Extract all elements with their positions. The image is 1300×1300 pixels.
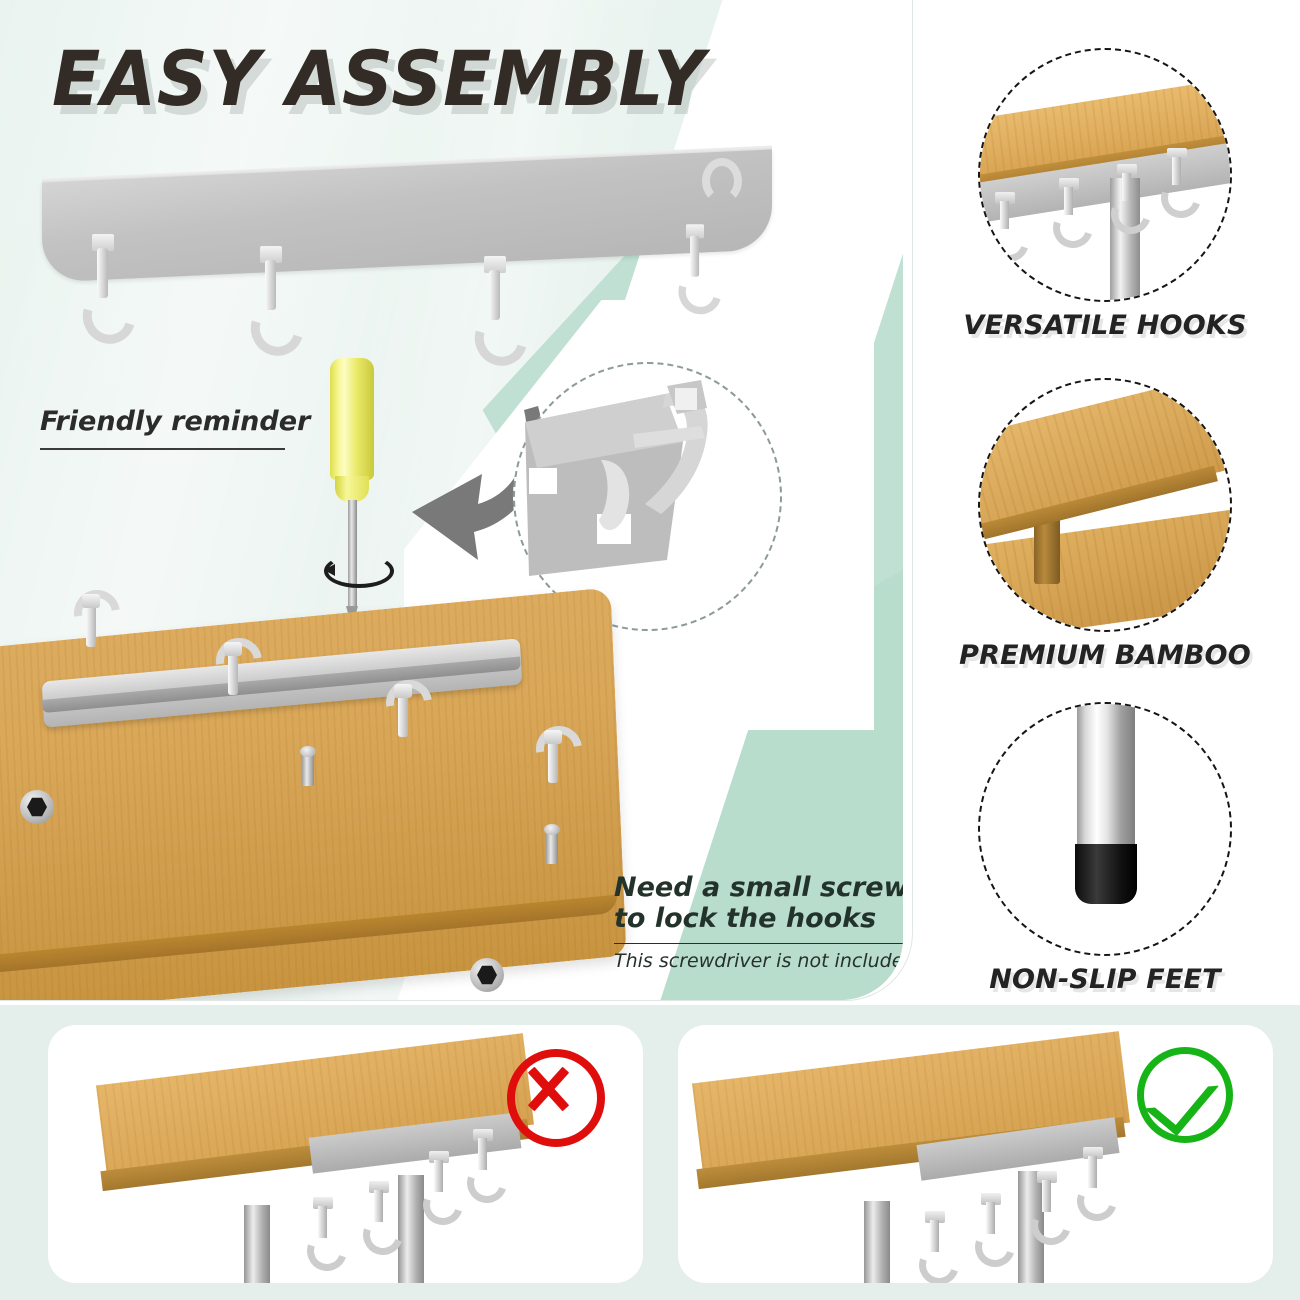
feature-label: NON-SLIP FEET bbox=[955, 964, 1255, 995]
rubber-foot bbox=[1075, 844, 1137, 904]
hook-inward bbox=[1082, 1147, 1104, 1209]
hook-mechanism-detail bbox=[515, 364, 780, 629]
feature-hook bbox=[994, 192, 1016, 248]
rail-hook-rotated-up bbox=[702, 158, 726, 198]
table-leg bbox=[864, 1201, 890, 1283]
feature-hook bbox=[1166, 148, 1188, 204]
hook-outward bbox=[428, 1151, 450, 1213]
premium-bamboo-photo bbox=[978, 378, 1232, 632]
hook-inward bbox=[1036, 1171, 1058, 1233]
page-title: EASY ASSEMBLY bbox=[52, 41, 705, 117]
note-line-2: to lock the hooks bbox=[614, 904, 903, 935]
main-assembly-panel: EASY ASSEMBLY Friendly reminder bbox=[0, 0, 903, 1000]
friendly-reminder-underline bbox=[40, 448, 285, 450]
board-hook bbox=[390, 684, 416, 758]
chrome-leg bbox=[1077, 704, 1135, 854]
hook-detail-magnifier bbox=[513, 362, 782, 631]
non-slip-feet-photo bbox=[978, 702, 1232, 956]
top-section: EASY ASSEMBLY Friendly reminder bbox=[0, 0, 1300, 1005]
feature-hook bbox=[1116, 164, 1138, 220]
rail-plate bbox=[42, 149, 772, 282]
friendly-reminder-block: Friendly reminder bbox=[40, 406, 310, 450]
rail-hook-locked bbox=[684, 224, 705, 299]
bamboo-board-assembly bbox=[0, 600, 660, 1000]
feature-label: VERSATILE HOOKS bbox=[955, 310, 1255, 341]
hook-inward bbox=[980, 1193, 1002, 1255]
rotation-arrow-icon bbox=[324, 564, 335, 576]
check-icon bbox=[1137, 1047, 1233, 1143]
feature-non-slip-feet: NON-SLIP FEET bbox=[955, 702, 1255, 995]
note-disclaimer: This screwdriver is not included in pack… bbox=[614, 950, 903, 972]
comparison-section bbox=[0, 1005, 1300, 1300]
bamboo-slab-upper bbox=[978, 378, 1228, 535]
friendly-reminder-label: Friendly reminder bbox=[40, 406, 310, 437]
cross-icon bbox=[507, 1049, 605, 1147]
hook-outward bbox=[368, 1181, 390, 1243]
hook-outward bbox=[472, 1129, 494, 1191]
comparison-card-wrong bbox=[48, 1025, 643, 1283]
board-hook bbox=[540, 730, 566, 804]
rail-hook bbox=[90, 234, 116, 326]
note-divider bbox=[614, 943, 903, 945]
mounting-screw bbox=[302, 752, 314, 786]
feature-hook bbox=[1058, 178, 1080, 234]
board-hook bbox=[78, 594, 104, 668]
hook-inward bbox=[924, 1211, 946, 1273]
feature-versatile-hooks: VERSATILE HOOKS bbox=[955, 48, 1255, 341]
screwdriver-collar bbox=[335, 476, 369, 502]
mounting-screw bbox=[546, 830, 558, 864]
board-hook bbox=[220, 642, 246, 716]
screwdriver-handle bbox=[330, 358, 374, 480]
hex-insert bbox=[20, 790, 54, 824]
feature-label: PREMIUM BAMBOO bbox=[955, 640, 1255, 671]
table-leg bbox=[244, 1205, 270, 1283]
hook-outward bbox=[312, 1197, 334, 1259]
screwdriver-note-block: Need a small screwdriver to lock the hoo… bbox=[614, 873, 903, 972]
note-line-1: Need a small screwdriver bbox=[614, 873, 903, 904]
hex-insert bbox=[470, 958, 504, 992]
feature-premium-bamboo: PREMIUM BAMBOO bbox=[955, 378, 1255, 671]
comparison-card-correct bbox=[678, 1025, 1273, 1283]
versatile-hooks-photo bbox=[978, 48, 1232, 302]
product-infographic: EASY ASSEMBLY Friendly reminder bbox=[0, 0, 1300, 1300]
rail-hook bbox=[482, 256, 508, 348]
rail-hook bbox=[258, 246, 284, 338]
